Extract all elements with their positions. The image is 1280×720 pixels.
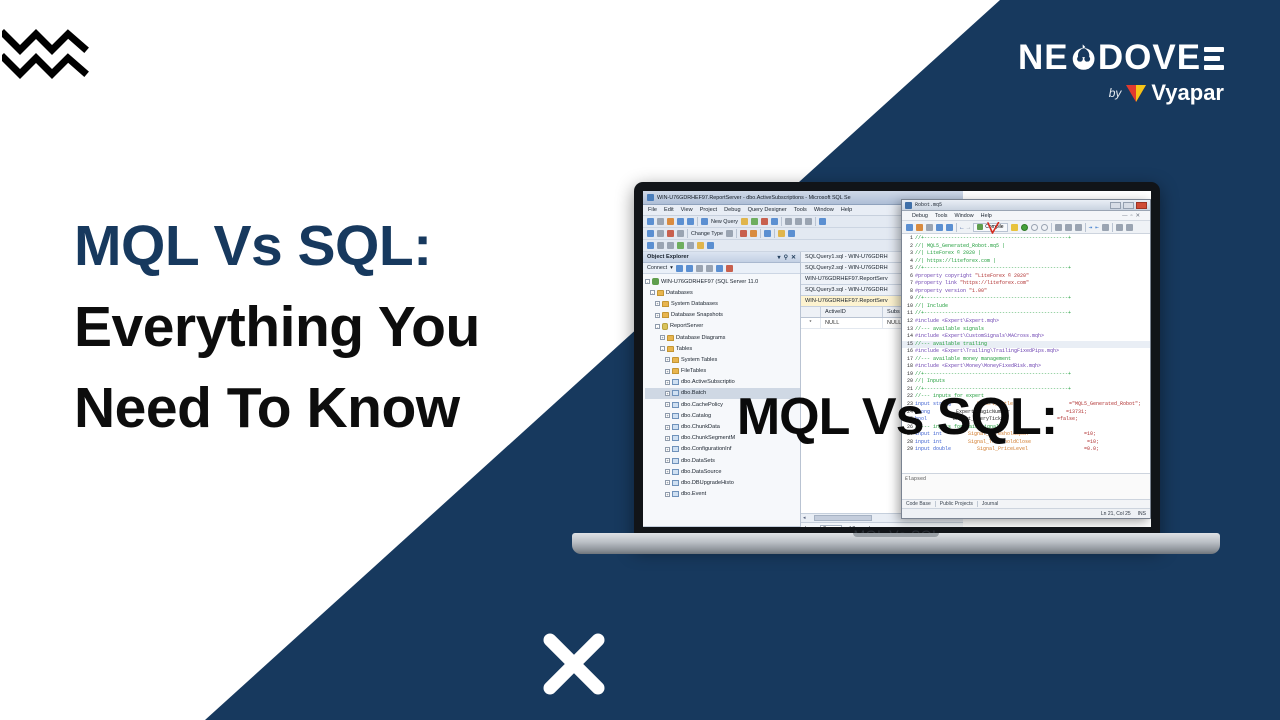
- object-explorer-header: Object Explorer ▾ ⚲ ✕: [643, 252, 800, 263]
- expand-toggle-icon[interactable]: +: [665, 492, 670, 497]
- laptop-lid: WIN-U76GDRHEF97.ReportServer - dbo.Activ…: [634, 182, 1160, 546]
- template-explorer-icon[interactable]: [707, 242, 714, 249]
- page-title-line-2: Everything You: [74, 287, 634, 368]
- find-icon[interactable]: [936, 224, 943, 231]
- code-token: #property link: [915, 280, 960, 286]
- toolbar-separator: [956, 223, 957, 232]
- comment-icon[interactable]: [1102, 224, 1109, 231]
- doc-restore-icon[interactable]: ▫: [1131, 213, 1133, 219]
- tree-node-label: Databases: [666, 290, 693, 296]
- object-explorer-header-actions[interactable]: ▾ ⚲ ✕: [778, 254, 796, 261]
- ssms-menu-file[interactable]: File: [648, 207, 657, 213]
- refresh-icon[interactable]: [716, 265, 723, 272]
- ssms-menu-view[interactable]: View: [681, 207, 693, 213]
- code-line[interactable]: 15//--- available trailing: [902, 341, 1150, 349]
- expand-toggle-icon[interactable]: +: [665, 469, 670, 474]
- group-by-icon[interactable]: [764, 230, 771, 237]
- folder-icon: [662, 312, 669, 318]
- brand-logo-dove: DOVE: [1098, 38, 1201, 78]
- code-line[interactable]: 29input doubleSignal_PriceLevel=0.0;: [902, 446, 1150, 454]
- chevron-down-icon[interactable]: [726, 230, 733, 237]
- code-line[interactable]: 8#property version "1.00": [902, 288, 1150, 296]
- chevron-down-icon[interactable]: [657, 218, 664, 225]
- line-number: 18: [902, 363, 915, 371]
- tree-node[interactable]: +dbo.Catalog: [645, 410, 800, 421]
- expand-toggle-icon[interactable]: +: [665, 447, 670, 452]
- navigate-forward-icon[interactable]: →: [967, 224, 971, 231]
- db-engine-query-icon[interactable]: [741, 218, 748, 225]
- start-debug-icon[interactable]: [1021, 224, 1028, 231]
- code-line-text: input doubleSignal_PriceLevel=0.0;: [915, 446, 1150, 454]
- bottom-tab-strip[interactable]: Code Base Public Projects Journal: [902, 499, 1150, 508]
- line-number: 16: [902, 348, 915, 356]
- code-line-text: //--- inputs for expert: [915, 393, 1150, 401]
- brand-logo-wordmark: NE DOVE: [1018, 38, 1224, 78]
- code-line-text: //+-------------------------------------…: [915, 386, 1150, 394]
- stop-icon[interactable]: [696, 265, 703, 272]
- metaeditor-menu-debug[interactable]: Debug: [912, 213, 928, 219]
- show-results-pane-icon[interactable]: [677, 230, 684, 237]
- code-token: Signal_ThresholdClose: [968, 439, 1031, 445]
- bookmark-icon[interactable]: [1116, 224, 1123, 231]
- metaeditor-title-text: Robot.mq5: [915, 202, 942, 208]
- line-number: 2: [902, 243, 915, 251]
- code-line[interactable]: 12#include <Expert\Expert.mqh>: [902, 318, 1150, 326]
- laptop-base: [572, 533, 1220, 554]
- code-line[interactable]: 24ulongExpert_MagicNumber=13731;: [902, 409, 1150, 417]
- connect-object-explorer-icon[interactable]: [676, 265, 683, 272]
- tab-public-projects[interactable]: Public Projects: [940, 501, 973, 507]
- code-token: ="MQL5_Generated_Robot";: [1069, 401, 1141, 407]
- stop-debug-icon[interactable]: [1041, 224, 1048, 231]
- metaeditor-title-bar: Robot.mq5: [902, 200, 1150, 211]
- code-line-text: input intSignal_ThresholdClose=10;: [915, 439, 1150, 447]
- code-line-text: //+-------------------------------------…: [915, 295, 1150, 303]
- open-file-icon[interactable]: [916, 224, 923, 231]
- expand-toggle-icon[interactable]: +: [655, 313, 660, 318]
- results-column-activeid: ActiveID: [821, 307, 883, 317]
- collapse-toggle-icon[interactable]: -: [645, 279, 650, 284]
- line-number: 21: [902, 386, 915, 394]
- undo-icon[interactable]: [819, 218, 826, 225]
- code-token: #include <Expert\Money\MoneyFixedRisk.mq…: [915, 363, 1041, 369]
- outdent-icon[interactable]: ⇤: [1095, 224, 1099, 231]
- filter-icon[interactable]: [706, 265, 713, 272]
- pin-icon[interactable]: ⚲: [784, 254, 788, 261]
- open-folder-icon[interactable]: [667, 218, 674, 225]
- disconnect-icon[interactable]: [686, 265, 693, 272]
- line-number: 1: [902, 235, 915, 243]
- code-line[interactable]: 27input intSignal_ThresholdOpen=10;: [902, 431, 1150, 439]
- window-controls[interactable]: [1110, 202, 1147, 209]
- expand-toggle-icon[interactable]: +: [665, 436, 670, 441]
- code-token: //--- available trailing: [915, 341, 987, 347]
- code-line[interactable]: 7#property link "https://liteforex.com": [902, 280, 1150, 288]
- maximize-button[interactable]: [1123, 202, 1134, 209]
- expand-toggle-icon[interactable]: +: [665, 391, 670, 396]
- code-line[interactable]: 21//+-----------------------------------…: [902, 386, 1150, 394]
- code-token: //| MQL5_Generated_Robot.mq5 |: [915, 243, 1005, 249]
- code-line[interactable]: 23input stringExpert_Title="MQL5_Generat…: [902, 401, 1150, 409]
- code-line[interactable]: 10//| Include: [902, 303, 1150, 311]
- code-line-text: //--- available trailing: [915, 341, 1150, 349]
- collapse-toggle-icon[interactable]: -: [650, 290, 655, 295]
- tree-node[interactable]: +dbo.ConfigurationInf: [645, 444, 800, 455]
- tree-node[interactable]: +dbo.Batch: [645, 388, 800, 399]
- code-line[interactable]: 4//| https://liteforex.com |: [902, 258, 1150, 266]
- code-line[interactable]: 20//| Inputs: [902, 378, 1150, 386]
- expand-toggle-icon[interactable]: +: [665, 357, 670, 362]
- ssms-menu-edit[interactable]: Edit: [664, 207, 674, 213]
- close-icon[interactable]: ✕: [791, 254, 796, 261]
- object-explorer-toolbar[interactable]: Connect ▾: [643, 263, 800, 274]
- solution-explorer-icon[interactable]: [697, 242, 704, 249]
- ssms-menu-tools[interactable]: Tools: [794, 207, 807, 213]
- add-new-derived-table-icon[interactable]: [788, 230, 795, 237]
- show-criteria-pane-icon[interactable]: [657, 230, 664, 237]
- code-line[interactable]: 1//+------------------------------------…: [902, 235, 1150, 243]
- toolbar-separator: [1051, 223, 1052, 232]
- code-line[interactable]: 16#include <Expert\Trailing\TrailingFixe…: [902, 348, 1150, 356]
- verify-sql-icon[interactable]: [750, 230, 757, 237]
- metaeditor-app-icon: [905, 202, 912, 209]
- code-line-text: #property version "1.00": [915, 288, 1150, 296]
- collapse-toggle-icon[interactable]: -: [660, 346, 665, 351]
- tree-node[interactable]: -WIN-U76GDRHEF97 (SQL Server 11.0: [645, 276, 800, 287]
- insert-mode-label: INS: [1138, 511, 1146, 517]
- folder-icon: [672, 357, 679, 363]
- code-token: //+-------------------------------------…: [915, 295, 1071, 301]
- navigate-forward-icon[interactable]: [677, 242, 684, 249]
- cell-activeid[interactable]: NULL: [821, 318, 883, 328]
- code-line[interactable]: 19//+-----------------------------------…: [902, 371, 1150, 379]
- new-query-icon[interactable]: [701, 218, 708, 225]
- step-over-icon[interactable]: [1065, 224, 1072, 231]
- metaeditor-menu-bar[interactable]: Debug Tools Window Help — ▫ ✕: [902, 211, 1150, 221]
- cut-icon[interactable]: [785, 218, 792, 225]
- tree-node[interactable]: -ReportServer: [645, 321, 800, 332]
- line-number: 20: [902, 378, 915, 386]
- code-token: //--- inputs for main signal: [915, 424, 999, 430]
- code-line-text: //+-------------------------------------…: [915, 371, 1150, 379]
- cursor-position-label: Ln 21, Col 25: [1101, 511, 1131, 517]
- expand-toggle-icon[interactable]: +: [665, 369, 670, 374]
- new-file-icon[interactable]: [647, 218, 654, 225]
- strategy-tester-icon[interactable]: [1011, 224, 1018, 231]
- analysis-query-icon[interactable]: [751, 218, 758, 225]
- navigate-back-icon[interactable]: [667, 242, 674, 249]
- close-button[interactable]: [1136, 202, 1147, 209]
- code-line[interactable]: 11//+-----------------------------------…: [902, 310, 1150, 318]
- show-diagram-pane-icon[interactable]: [647, 230, 654, 237]
- code-line[interactable]: 26//--- inputs for main signal: [902, 424, 1150, 432]
- code-line-text: #include <Expert\Money\MoneyFixedRisk.mq…: [915, 363, 1150, 371]
- code-token: ulong: [915, 409, 930, 415]
- line-number: 25: [902, 416, 915, 424]
- code-token: Expert_MagicNumber: [956, 409, 1010, 415]
- mdx-query-icon[interactable]: [761, 218, 768, 225]
- line-number: 10: [902, 303, 915, 311]
- code-token: //--- available signals: [915, 326, 984, 332]
- tree-node[interactable]: +dbo.DBUpgradeHisto: [645, 477, 800, 488]
- tree-node-label: dbo.DataSets: [681, 458, 715, 464]
- tree-node[interactable]: +dbo.DataSets: [645, 455, 800, 466]
- doc-minimize-icon[interactable]: —: [1122, 213, 1127, 219]
- code-token: bool: [915, 416, 927, 422]
- save-all-icon[interactable]: [687, 218, 694, 225]
- tree-node-label: Database Diagrams: [676, 335, 725, 341]
- code-line-text: //+-------------------------------------…: [915, 265, 1150, 273]
- code-token: //| Inputs: [915, 378, 945, 384]
- indent-icon[interactable]: ⇥: [1089, 224, 1093, 231]
- code-line-text: //| Inputs: [915, 378, 1150, 386]
- expand-toggle-icon[interactable]: +: [665, 402, 670, 407]
- brand-logo: NE DOVE by Vyapar: [1018, 38, 1224, 104]
- chevron-down-icon[interactable]: [926, 224, 933, 231]
- toolbar-separator: [687, 229, 688, 238]
- new-file-icon[interactable]: [906, 224, 913, 231]
- table-icon: [672, 402, 679, 408]
- step-into-icon[interactable]: [1055, 224, 1062, 231]
- dove-mark-icon: [1070, 41, 1097, 75]
- code-token: //+-------------------------------------…: [915, 235, 1071, 241]
- code-token: //| LiteForex © 2020 |: [915, 250, 981, 256]
- folder-icon: [657, 290, 664, 296]
- expand-toggle-icon[interactable]: +: [665, 425, 670, 430]
- help-icon[interactable]: [726, 265, 733, 272]
- metaeditor-menu-help[interactable]: Help: [981, 213, 992, 219]
- brand-logo-vyapar-label: Vyapar: [1151, 80, 1224, 106]
- code-line[interactable]: 9//+------------------------------------…: [902, 295, 1150, 303]
- table-icon: [672, 424, 679, 430]
- code-line[interactable]: 22//--- inputs for expert: [902, 393, 1150, 401]
- code-token: Expert_EveryTick: [953, 416, 1001, 422]
- paste-icon[interactable]: [805, 218, 812, 225]
- line-number: 4: [902, 258, 915, 266]
- tree-node-label: dbo.DBUpgradeHisto: [681, 480, 734, 486]
- tree-node[interactable]: +Database Snapshots: [645, 310, 800, 321]
- tree-node[interactable]: -Tables: [645, 343, 800, 354]
- tree-node-label: dbo.ActiveSubscriptio: [681, 379, 735, 385]
- code-token: "1.00": [969, 288, 987, 294]
- collapse-toggle-icon[interactable]: -: [655, 324, 660, 329]
- metaeditor-menu-tools[interactable]: Tools: [935, 213, 948, 219]
- code-line-text: //| LiteForex © 2020 |: [915, 250, 1150, 258]
- brand-logo-e-bars-icon: [1204, 47, 1224, 70]
- code-editor[interactable]: 1//+------------------------------------…: [902, 234, 1150, 473]
- zigzag-decoration-icon: [2, 24, 94, 86]
- code-token: //| Include: [915, 303, 948, 309]
- step-out-icon[interactable]: [1075, 224, 1082, 231]
- code-token: =false;: [1057, 416, 1078, 422]
- line-number: 19: [902, 371, 915, 379]
- expand-toggle-icon[interactable]: +: [665, 480, 670, 485]
- code-line-text: //--- available money management: [915, 356, 1150, 364]
- output-panel-label: Elapsed: [905, 476, 926, 482]
- tree-node[interactable]: +System Databases: [645, 298, 800, 309]
- folder-icon: [672, 368, 679, 374]
- metaeditor-menu-window[interactable]: Window: [954, 213, 973, 219]
- change-type-button[interactable]: Change Type: [691, 231, 723, 237]
- new-query-button[interactable]: New Query: [711, 219, 738, 225]
- toolbar-separator: [760, 229, 761, 238]
- code-token: //+-------------------------------------…: [915, 371, 1071, 377]
- ssms-menu-debug[interactable]: Debug: [724, 207, 740, 213]
- ssms-menu-query-designer[interactable]: Query Designer: [748, 207, 787, 213]
- object-explorer-icon[interactable]: [647, 242, 654, 249]
- code-token: #include <Expert\Trailing\TrailingFixedP…: [915, 348, 1059, 354]
- expand-toggle-icon[interactable]: +: [655, 301, 660, 306]
- toolbar-separator: [815, 217, 816, 226]
- tree-node[interactable]: +dbo.CachePolicy: [645, 399, 800, 410]
- table-icon: [672, 379, 679, 385]
- tree-node[interactable]: +dbo.Event: [645, 489, 800, 500]
- object-explorer-tree[interactable]: -WIN-U76GDRHEF97 (SQL Server 11.0-Databa…: [643, 274, 800, 526]
- show-sql-pane-icon[interactable]: [667, 230, 674, 237]
- line-number: 24: [902, 409, 915, 417]
- line-number: 14: [902, 333, 915, 341]
- line-number: 13: [902, 326, 915, 334]
- code-token: #include <Expert\CustomSignals\MACross.m…: [915, 333, 1044, 339]
- code-line[interactable]: 5//+------------------------------------…: [902, 265, 1150, 273]
- code-line[interactable]: 28input intSignal_ThresholdClose=10;: [902, 439, 1150, 447]
- line-number: 9: [902, 295, 915, 303]
- metaeditor-toolbar[interactable]: ← → Compile: [902, 221, 1150, 234]
- tree-node[interactable]: +dbo.DataSource: [645, 466, 800, 477]
- toolbar-separator: [781, 217, 782, 226]
- tree-node-label: dbo.Catalog: [681, 413, 711, 419]
- server-icon: [652, 278, 659, 285]
- table-icon: [672, 469, 679, 475]
- ssms-menu-project[interactable]: Project: [700, 207, 717, 213]
- code-token: =13731;: [1066, 409, 1087, 415]
- toolbox-icon[interactable]: [687, 242, 694, 249]
- expand-toggle-icon[interactable]: +: [660, 335, 665, 340]
- code-token: //--- inputs for expert: [915, 393, 984, 399]
- tree-node[interactable]: -Databases: [645, 287, 800, 298]
- expand-toggle-icon[interactable]: +: [665, 413, 670, 418]
- scroll-left-arrow-icon[interactable]: ◂: [803, 515, 806, 521]
- row-marker: *: [801, 318, 821, 328]
- tree-node-label: dbo.Batch: [681, 390, 706, 396]
- connect-button[interactable]: Connect: [647, 265, 667, 271]
- code-line[interactable]: 6#property copyright "LiteForex © 2020": [902, 273, 1150, 281]
- code-token: Signal_ThresholdOpen: [968, 431, 1028, 437]
- line-number: 27: [902, 431, 915, 439]
- code-token: input int: [915, 439, 942, 445]
- tree-node-label: dbo.DataSource: [681, 469, 721, 475]
- tab-journal[interactable]: Journal: [982, 501, 998, 507]
- laptop-screen: WIN-U76GDRHEF97.ReportServer - dbo.Activ…: [643, 191, 1151, 527]
- code-token: #include <Expert\Expert.mqh>: [915, 318, 999, 324]
- code-line-text: //| MQL5_Generated_Robot.mq5 |: [915, 243, 1150, 251]
- code-line[interactable]: 18#include <Expert\Money\MoneyFixedRisk.…: [902, 363, 1150, 371]
- code-token: //| https://liteforex.com |: [915, 258, 996, 264]
- code-token: =0.0;: [1084, 446, 1099, 452]
- code-line[interactable]: 3//| LiteForex © 2020 |: [902, 250, 1150, 258]
- tree-node[interactable]: +dbo.ChunkData: [645, 421, 800, 432]
- properties-icon[interactable]: [1126, 224, 1133, 231]
- table-icon: [672, 446, 679, 452]
- expand-toggle-icon[interactable]: +: [665, 380, 670, 385]
- status-bar-right: Ln 21, Col 25 INS: [1101, 511, 1146, 517]
- navigate-back-icon[interactable]: ←: [960, 224, 964, 231]
- brand-logo-ne: NE: [1018, 38, 1069, 78]
- chevron-down-icon[interactable]: ▾: [778, 254, 781, 261]
- tree-node-label: dbo.Event: [681, 491, 706, 497]
- doc-close-icon[interactable]: ✕: [1135, 213, 1140, 219]
- code-line-text: ulongExpert_MagicNumber=13731;: [915, 409, 1150, 417]
- code-token: //+-------------------------------------…: [915, 310, 1071, 316]
- ssms-menu-window[interactable]: Window: [814, 207, 834, 213]
- status-bar: Ln 21, Col 25 INS: [902, 508, 1150, 518]
- output-panel: Elapsed: [902, 473, 1150, 499]
- document-window-controls[interactable]: — ▫ ✕: [1122, 213, 1140, 219]
- tree-node[interactable]: +dbo.ActiveSubscriptio: [645, 377, 800, 388]
- code-line-text: #include <Expert\CustomSignals\MACross.m…: [915, 333, 1150, 341]
- code-line[interactable]: 13//--- available signals: [902, 326, 1150, 334]
- folder-icon: [662, 301, 669, 307]
- copy-icon[interactable]: [795, 218, 802, 225]
- code-token: #property copyright: [915, 273, 975, 279]
- code-token: "https://liteforex.com": [960, 280, 1029, 286]
- line-number: 7: [902, 280, 915, 288]
- code-line[interactable]: 17//--- available money management: [902, 356, 1150, 364]
- code-line[interactable]: 25boolExpert_EveryTick=false;: [902, 416, 1150, 424]
- table-icon: [672, 458, 679, 464]
- pause-debug-icon[interactable]: [1031, 224, 1038, 231]
- line-number: 26: [902, 424, 915, 432]
- tree-node[interactable]: +FileTables: [645, 366, 800, 377]
- chevron-down-icon[interactable]: ▾: [670, 265, 673, 271]
- ssms-title-text: WIN-U76GDRHEF97.ReportServer - dbo.Activ…: [657, 195, 851, 201]
- table-icon: [672, 480, 679, 486]
- code-line[interactable]: 2//| MQL5_Generated_Robot.mq5 |: [902, 243, 1150, 251]
- find-next-icon[interactable]: [946, 224, 953, 231]
- properties-icon[interactable]: [657, 242, 664, 249]
- save-icon[interactable]: [677, 218, 684, 225]
- add-table-icon[interactable]: [778, 230, 785, 237]
- tab-code-base[interactable]: Code Base: [906, 501, 931, 507]
- results-column-selector: [801, 307, 821, 317]
- page-title: MQL Vs SQL: Everything You Need To Know: [74, 206, 634, 449]
- toolbar-separator: [774, 229, 775, 238]
- minimize-button[interactable]: [1110, 202, 1121, 209]
- tree-node[interactable]: +System Tables: [645, 354, 800, 365]
- tree-node-label: System Databases: [671, 301, 718, 307]
- brand-logo-by-label: by: [1109, 86, 1122, 100]
- code-token: //+-------------------------------------…: [915, 386, 1071, 392]
- execute-sql-icon[interactable]: [740, 230, 747, 237]
- tree-node[interactable]: +Database Diagrams: [645, 332, 800, 343]
- tree-node[interactable]: +dbo.ChunkSegmentM: [645, 433, 800, 444]
- tree-node-label: FileTables: [681, 368, 706, 374]
- line-number: 12: [902, 318, 915, 326]
- dmx-query-icon[interactable]: [771, 218, 778, 225]
- poster-canvas: MQL Vs SQL: Everything You Need To Know …: [0, 0, 1280, 720]
- expand-toggle-icon[interactable]: +: [665, 458, 670, 463]
- folder-icon: [667, 335, 674, 341]
- line-number: 17: [902, 356, 915, 364]
- code-line[interactable]: 14#include <Expert\CustomSignals\MACross…: [902, 333, 1150, 341]
- tree-node-label: System Tables: [681, 357, 717, 363]
- tree-node-label: dbo.ConfigurationInf: [681, 446, 731, 452]
- ssms-menu-help[interactable]: Help: [841, 207, 853, 213]
- scroll-thumb[interactable]: [814, 515, 872, 521]
- object-explorer-title: Object Explorer: [647, 254, 689, 260]
- code-line-text: //+-------------------------------------…: [915, 310, 1150, 318]
- code-token: Signal_PriceLevel: [977, 446, 1028, 452]
